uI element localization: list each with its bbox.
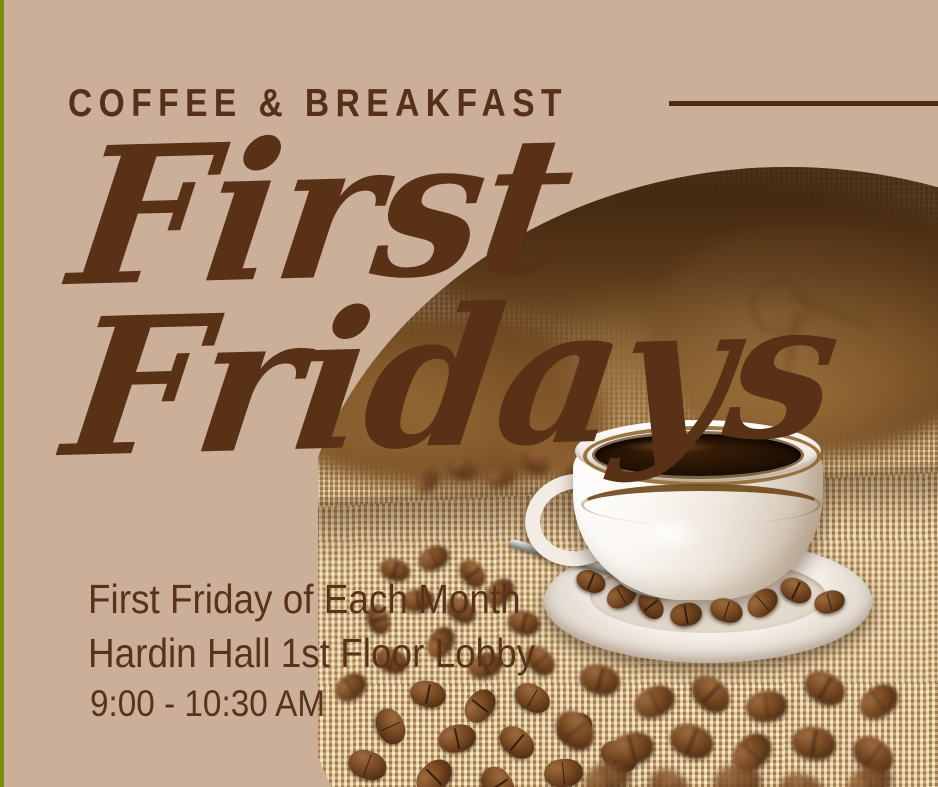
headline-block: First Fridays xyxy=(58,136,821,471)
cup-highlight xyxy=(631,514,705,554)
left-accent-strip xyxy=(0,0,4,787)
detail-time: 9:00 - 10:30 AM xyxy=(90,680,535,727)
flyer-canvas: COFFEE & BREAKFAST First Fridays First F… xyxy=(0,0,938,787)
cup-gold-band-inner xyxy=(581,484,821,525)
detail-location: Hardin Hall 1st Floor Lobby xyxy=(88,626,535,680)
event-details: First Friday of Each Month Hardin Hall 1… xyxy=(88,572,585,728)
headline-line-2: Fridays xyxy=(58,287,846,470)
detail-frequency: First Friday of Each Month xyxy=(88,572,535,626)
kicker-rule xyxy=(669,101,938,106)
